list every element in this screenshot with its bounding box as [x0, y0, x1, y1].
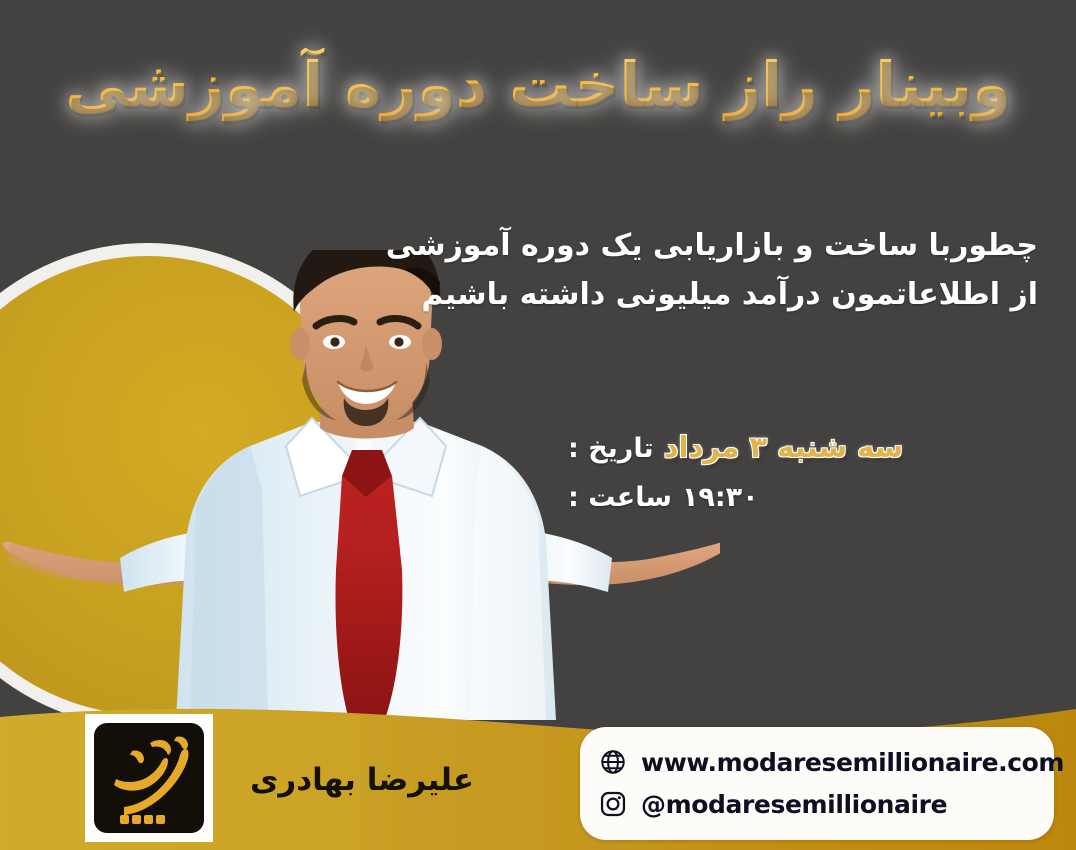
- contact-card: www.modaresemillionaire.com @modaresemil…: [580, 727, 1054, 840]
- webinar-poster: وبینار راز ساخت دوره آموزشی چطوربا ساخت …: [0, 0, 1076, 850]
- brand-logo: [85, 714, 213, 842]
- date-value: سه شنبه ۳ مرداد: [664, 430, 904, 464]
- logo-mark: [94, 723, 204, 833]
- poster-subcopy: چطوربا ساخت و بازاریابی یک دوره آموزشی ا…: [418, 222, 1038, 319]
- poster-headline: وبینار راز ساخت دوره آموزشی: [0, 48, 1076, 121]
- time-value: ۱۹:۳۰: [682, 482, 759, 513]
- schedule-time-row: ساعت : ۱۹:۳۰: [568, 482, 1038, 513]
- instagram-handle: @modaresemillionaire: [641, 790, 947, 819]
- contact-website-row[interactable]: www.modaresemillionaire.com: [598, 741, 1032, 783]
- date-label: تاریخ :: [568, 433, 654, 464]
- time-label: ساعت :: [568, 482, 672, 513]
- globe-icon: [598, 747, 628, 777]
- subcopy-line-2: از اطلاعاتمون درآمد میلیونی داشته باشیم: [418, 271, 1038, 320]
- headline-text: وبینار راز ساخت دوره آموزشی: [65, 48, 1011, 121]
- subcopy-line-1: چطوربا ساخت و بازاریابی یک دوره آموزشی: [418, 222, 1038, 271]
- contact-instagram-row[interactable]: @modaresemillionaire: [598, 783, 1032, 825]
- instagram-icon: [598, 789, 628, 819]
- website-url: www.modaresemillionaire.com: [641, 748, 1064, 777]
- speaker-name: علیرضا بهادری: [250, 762, 474, 798]
- schedule-date-row: تاریخ : سه شنبه ۳ مرداد: [568, 430, 1038, 464]
- poster-footer: علیرضا بهادری www.modaresemillionaire.co…: [0, 690, 1076, 850]
- schedule-block: تاریخ : سه شنبه ۳ مرداد ساعت : ۱۹:۳۰: [568, 430, 1038, 513]
